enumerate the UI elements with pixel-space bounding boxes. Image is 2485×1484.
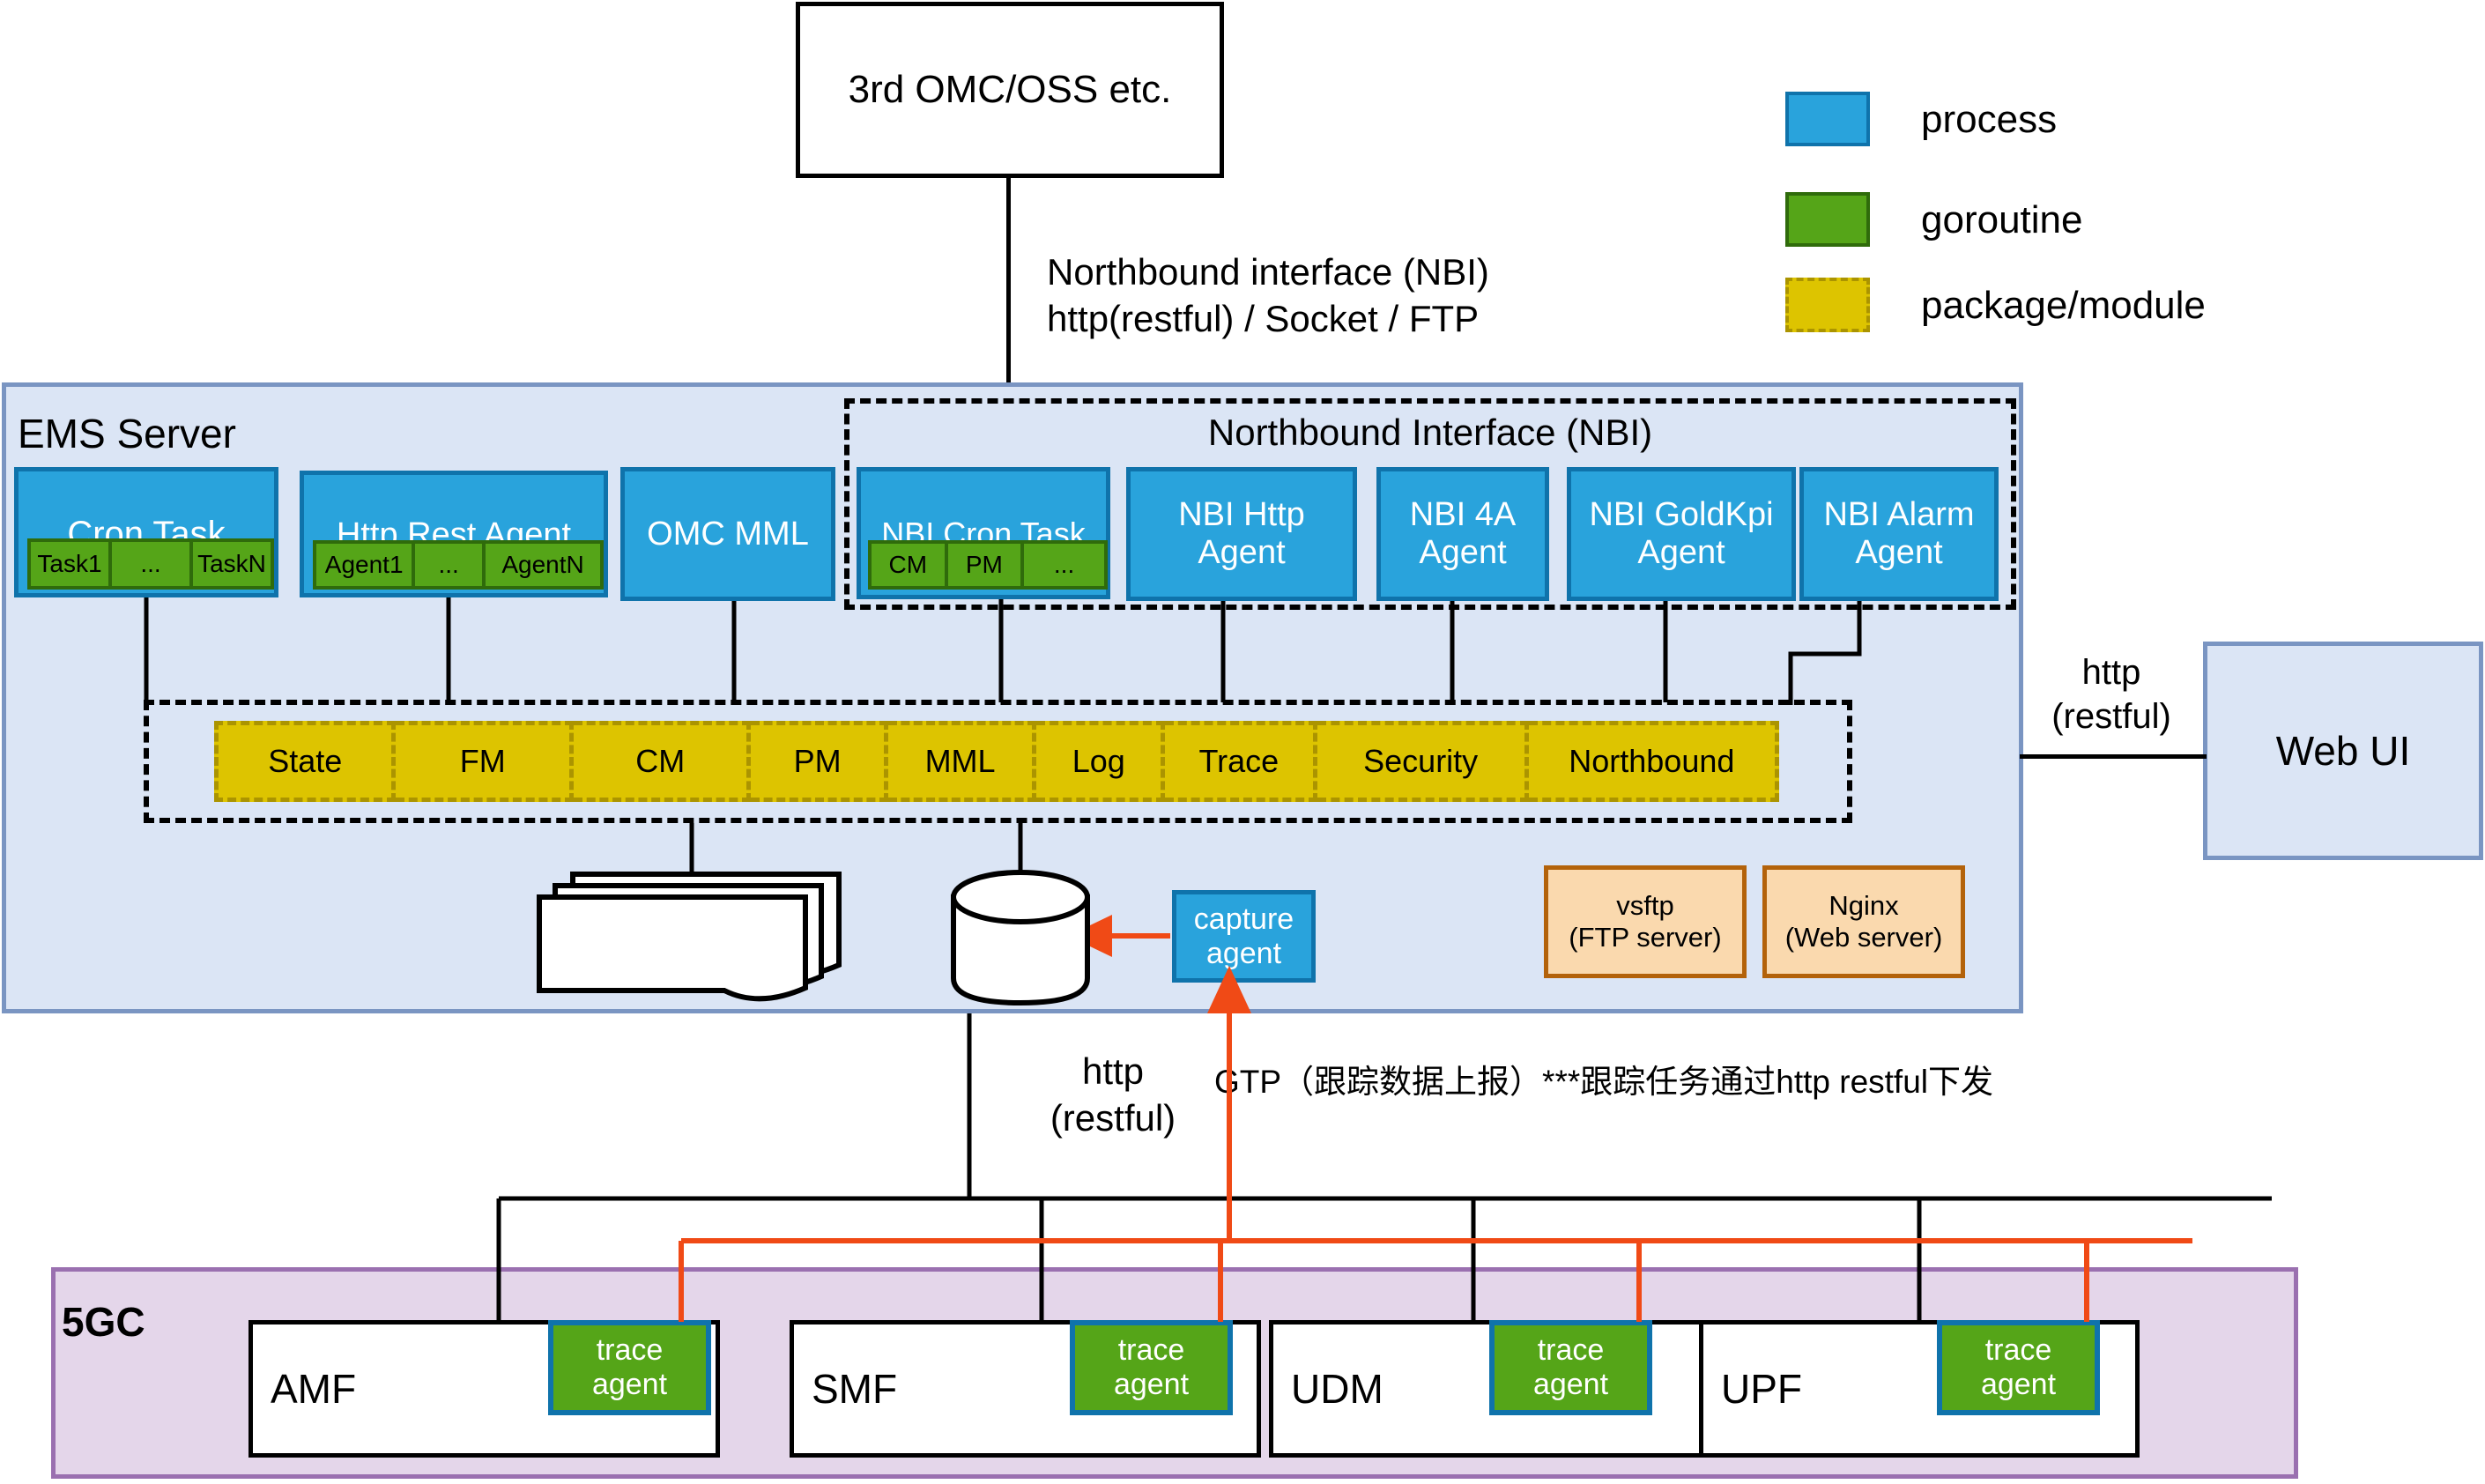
module-log[interactable]: Log bbox=[1036, 721, 1165, 802]
process-nbi-alarm-agent[interactable]: NBI Alarm Agent bbox=[1799, 467, 1999, 601]
process-nbi-goldkpi-agent-label: NBI GoldKpi Agent bbox=[1589, 496, 1773, 572]
module-mml[interactable]: MML bbox=[888, 721, 1037, 802]
module-state[interactable]: State bbox=[214, 721, 396, 802]
goroutine-task1[interactable]: Task1 bbox=[27, 538, 112, 590]
process-nbi-4a-agent[interactable]: NBI 4A Agent bbox=[1376, 467, 1549, 601]
trace-agent-amf[interactable]: trace agent bbox=[548, 1320, 711, 1415]
capture-agent-label: capture agent bbox=[1194, 902, 1294, 971]
ems-server-title: EMS Server bbox=[18, 409, 236, 460]
nbi-group-title: Northbound Interface (NBI) bbox=[844, 410, 2016, 456]
connector-ems-to-webui bbox=[2020, 754, 2207, 759]
web-ui-link-label: http (restful) bbox=[2023, 650, 2199, 738]
legend-swatch-process bbox=[1785, 92, 1870, 146]
node-amf-label: AMF bbox=[271, 1365, 356, 1413]
gc-title: 5GC bbox=[62, 1297, 145, 1348]
connector-external-to-ems bbox=[1006, 178, 1011, 388]
process-omc-mml-label: OMC MML bbox=[647, 516, 809, 553]
goroutine-task-ellipsis[interactable]: ... bbox=[112, 538, 193, 590]
process-omc-mml[interactable]: OMC MML bbox=[620, 467, 835, 601]
database-label: MySQL bbox=[952, 921, 1093, 957]
legend-swatch-package bbox=[1785, 278, 1870, 332]
goroutine-agent-ellipsis[interactable]: ... bbox=[415, 540, 486, 590]
module-fm[interactable]: FM bbox=[396, 721, 573, 802]
process-nbi-cron-task[interactable]: NBI Cron Task CM PM ... bbox=[857, 467, 1110, 599]
node-udm-label: UDM bbox=[1291, 1365, 1383, 1413]
web-ui-box[interactable]: Web UI bbox=[2203, 642, 2483, 860]
process-nbi-alarm-agent-label: NBI Alarm Agent bbox=[1823, 496, 1974, 572]
trace-agent-smf[interactable]: trace agent bbox=[1070, 1320, 1233, 1415]
trace-agent-upf[interactable]: trace agent bbox=[1937, 1320, 2100, 1415]
module-trace[interactable]: Trace bbox=[1165, 721, 1317, 802]
process-nbi-http-agent-label: NBI Http Agent bbox=[1178, 496, 1305, 572]
nbi-link-label: Northbound interface (NBI) http(restful)… bbox=[1047, 249, 1611, 342]
goroutine-nbi-pm[interactable]: PM bbox=[948, 540, 1025, 590]
node-smf-label: SMF bbox=[812, 1365, 897, 1413]
goroutine-taskn[interactable]: TaskN bbox=[193, 538, 274, 590]
diagram-canvas: 3rd OMC/OSS etc. Northbound interface (N… bbox=[0, 0, 2485, 1484]
node-upf-label: UPF bbox=[1721, 1365, 1802, 1413]
server-vsftp-label: vsftp (FTP server) bbox=[1569, 890, 1721, 953]
process-nbi-goldkpi-agent[interactable]: NBI GoldKpi Agent bbox=[1567, 467, 1796, 601]
legend-swatch-goroutine bbox=[1785, 192, 1870, 247]
gtp-note-label: GTP（跟踪数据上报）***跟踪任务通过http restful下发 bbox=[1214, 1062, 2254, 1102]
goroutine-agentn[interactable]: AgentN bbox=[486, 540, 604, 590]
goroutine-agent1[interactable]: Agent1 bbox=[313, 540, 415, 590]
http-restful-link-label: http (restful) bbox=[1016, 1049, 1210, 1141]
process-cron-task[interactable]: Cron Task Task1 ... TaskN bbox=[14, 467, 278, 597]
goroutine-nbi-cm[interactable]: CM bbox=[868, 540, 948, 590]
goroutine-nbi-ellipsis[interactable]: ... bbox=[1024, 540, 1108, 590]
external-system-box: 3rd OMC/OSS etc. bbox=[796, 2, 1224, 178]
legend-label-package: package/module bbox=[1921, 281, 2206, 330]
external-system-label: 3rd OMC/OSS etc. bbox=[849, 68, 1172, 112]
legend-label-process: process bbox=[1921, 95, 2057, 144]
process-http-rest-agent[interactable]: Http Rest Agent Agent1 ... AgentN bbox=[300, 471, 608, 597]
server-nginx-label: Nginx (Web server) bbox=[1785, 890, 1943, 953]
module-bar: State FM CM PM MML Log Trace Security No… bbox=[214, 721, 1779, 802]
module-pm[interactable]: PM bbox=[751, 721, 887, 802]
module-cm[interactable]: CM bbox=[574, 721, 751, 802]
process-capture-agent[interactable]: capture agent bbox=[1172, 890, 1316, 983]
trace-agent-udm[interactable]: trace agent bbox=[1489, 1320, 1652, 1415]
module-security[interactable]: Security bbox=[1317, 721, 1529, 802]
server-nginx[interactable]: Nginx (Web server) bbox=[1762, 865, 1965, 978]
server-vsftp[interactable]: vsftp (FTP server) bbox=[1544, 865, 1747, 978]
file-stack-label: log/bakup fm/cm/pm file bbox=[564, 901, 820, 974]
web-ui-label: Web UI bbox=[2276, 727, 2411, 775]
process-nbi-http-agent[interactable]: NBI Http Agent bbox=[1126, 467, 1357, 601]
module-northbound[interactable]: Northbound bbox=[1529, 721, 1779, 802]
legend-label-goroutine: goroutine bbox=[1921, 196, 2082, 244]
process-nbi-4a-agent-label: NBI 4A Agent bbox=[1410, 496, 1516, 572]
